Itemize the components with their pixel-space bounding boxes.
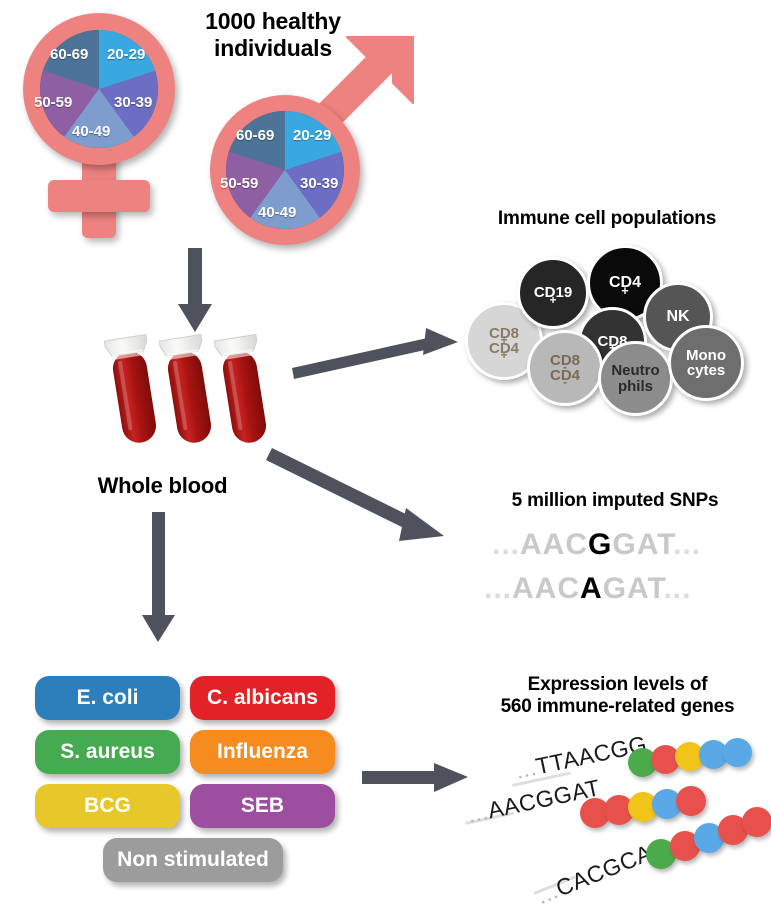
snp-row1-left: AAC (520, 528, 588, 561)
cell-cd4pos-label: CD4+ (609, 275, 641, 291)
snp-row2-left: AAC (512, 572, 580, 605)
stimulus-seb-label: SEB (241, 794, 284, 818)
cell-neutrophils: Neutro phils (598, 341, 673, 416)
female-pie-label-40-49: 40-49 (72, 123, 110, 140)
snp-row2-variant: A (580, 572, 603, 605)
cell-neutrophils-line1: Neutro (611, 363, 659, 378)
cell-cd8neg-cd4neg-line1: CD8- (550, 353, 580, 368)
male-pie-label-20-29: 20-29 (293, 127, 331, 144)
figure-canvas: 1000 healthy individuals 20-29 30-39 40-… (0, 0, 771, 922)
snp-row2-right: GAT (603, 572, 664, 605)
arrow-blood-to-snps (272, 448, 452, 546)
snp-sequence-row-1: ...AACGGAT... (492, 528, 701, 562)
immune-cell-heading: Immune cell populations (452, 208, 762, 230)
female-pie-label-30-39: 30-39 (114, 94, 152, 111)
snp-sequences: ...AACGGAT... ...AACAGAT... (478, 528, 758, 618)
expression-strand-3: ...CACGCAA (468, 820, 771, 900)
cell-monocytes-line1: Mono (686, 348, 726, 363)
stimulus-s-aureus[interactable]: S. aureus (35, 730, 180, 774)
snp-row1-right: GAT (612, 528, 673, 561)
cell-cd8neg-cd4neg-line2: CD4- (550, 368, 580, 383)
cell-cd19pos: CD19+ (517, 257, 589, 329)
snp-row1-variant: G (588, 528, 612, 561)
blood-tube-3 (214, 335, 272, 446)
female-symbol-crossbar (48, 180, 150, 212)
female-pie-label-60-69: 60-69 (50, 46, 88, 63)
cell-monocytes-line2: cytes (687, 363, 725, 378)
snp-sequence-row-2: ...AACAGAT... (484, 572, 691, 606)
whole-blood-label: Whole blood (75, 473, 250, 499)
female-gender-symbol: 20-29 30-39 40-49 50-59 60-69 (10, 8, 210, 238)
blood-tube-1 (104, 335, 162, 446)
female-pie-label-50-59: 50-59 (34, 94, 72, 111)
cell-monocytes: Mono cytes (668, 325, 744, 401)
male-pie-label-40-49: 40-49 (258, 204, 296, 221)
strand-1-bead-5 (723, 738, 752, 767)
stimulus-seb[interactable]: SEB (190, 784, 335, 828)
expression-heading: Expression levels of 560 immune-related … (470, 674, 765, 719)
snp-row1-suffix: ... (673, 528, 701, 561)
strand-2-bead-5 (676, 786, 706, 816)
snps-heading: 5 million imputed SNPs (470, 490, 760, 512)
stimulus-non-stimulated[interactable]: Non stimulated (103, 838, 283, 882)
arrow-blood-to-stimuli (138, 512, 180, 644)
stimulus-e-coli-label: E. coli (77, 686, 139, 710)
cell-cd8pos-cd4pos-line2: CD4+ (489, 341, 519, 356)
immune-cell-cluster: CD8+ CD4+ CD19+ CD4+ CD8+ NK CD8- CD4- N… (465, 245, 765, 420)
male-pie-label-50-59: 50-59 (220, 175, 258, 192)
snp-row2-suffix: ... (663, 572, 691, 605)
arrow-cohort-to-blood (175, 248, 215, 334)
stimulus-e-coli[interactable]: E. coli (35, 676, 180, 720)
cell-cd8neg-cd4neg: CD8- CD4- (527, 330, 603, 406)
female-pie-label-20-29: 20-29 (107, 46, 145, 63)
snp-row2-prefix: ... (484, 572, 512, 605)
expression-heading-line2: 560 immune-related genes (470, 696, 765, 718)
male-gender-symbol: 20-29 30-39 40-49 50-59 60-69 (200, 20, 430, 250)
gene-expression-strands: ...TTAACGG ...AACGGAT ...CACGCAA (468, 742, 771, 917)
stimulus-s-aureus-label: S. aureus (60, 740, 155, 764)
male-pie-label-60-69: 60-69 (236, 127, 274, 144)
stimulus-influenza[interactable]: Influenza (190, 730, 335, 774)
arrow-blood-to-immune-cells (292, 328, 460, 376)
snp-row1-prefix: ... (492, 528, 520, 561)
male-pie-label-30-39: 30-39 (300, 175, 338, 192)
stimulus-bcg[interactable]: BCG (35, 784, 180, 828)
stimuli-panel: E. coli C. albicans S. aureus Influenza … (35, 676, 345, 896)
blood-tubes-svg (100, 330, 300, 460)
stimulus-c-albicans[interactable]: C. albicans (190, 676, 335, 720)
cell-neutrophils-line2: phils (618, 379, 653, 394)
stimulus-influenza-label: Influenza (217, 740, 308, 764)
stimulus-non-stimulated-label: Non stimulated (117, 848, 269, 872)
cell-cd8pos-cd4pos-line1: CD8+ (489, 326, 519, 341)
expression-heading-line1: Expression levels of (470, 674, 765, 696)
cell-cd19pos-label: CD19+ (534, 285, 572, 300)
stimulus-bcg-label: BCG (84, 794, 131, 818)
arrow-stimuli-to-expression (362, 762, 472, 794)
whole-blood-tubes (100, 330, 300, 460)
stimulus-c-albicans-label: C. albicans (207, 686, 318, 710)
blood-tube-2 (159, 335, 217, 446)
cell-nk-label: NK (666, 309, 689, 325)
strand-3-bead-5 (742, 807, 771, 837)
